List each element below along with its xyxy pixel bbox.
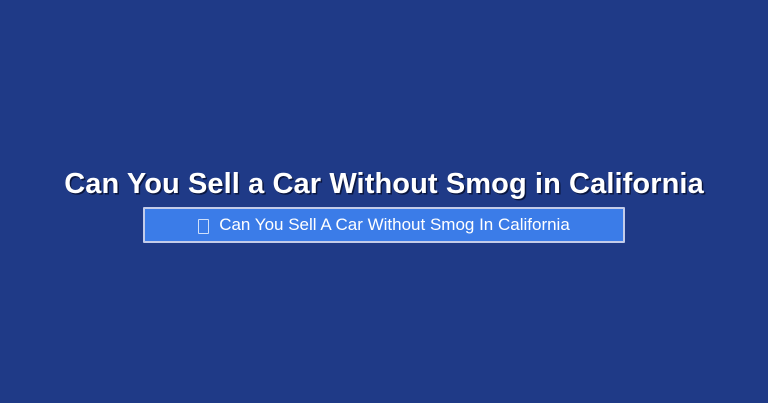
page-canvas: Can You Sell a Car Without Smog in Calif… bbox=[0, 0, 768, 403]
cta-container: Can You Sell A Car Without Smog In Calif… bbox=[0, 207, 768, 243]
video-title-button[interactable]: Can You Sell A Car Without Smog In Calif… bbox=[143, 207, 625, 243]
video-title-button-label: Can You Sell A Car Without Smog In Calif… bbox=[219, 209, 570, 241]
missing-glyph-tofu-icon bbox=[198, 219, 209, 234]
page-title: Can You Sell a Car Without Smog in Calif… bbox=[0, 164, 768, 204]
